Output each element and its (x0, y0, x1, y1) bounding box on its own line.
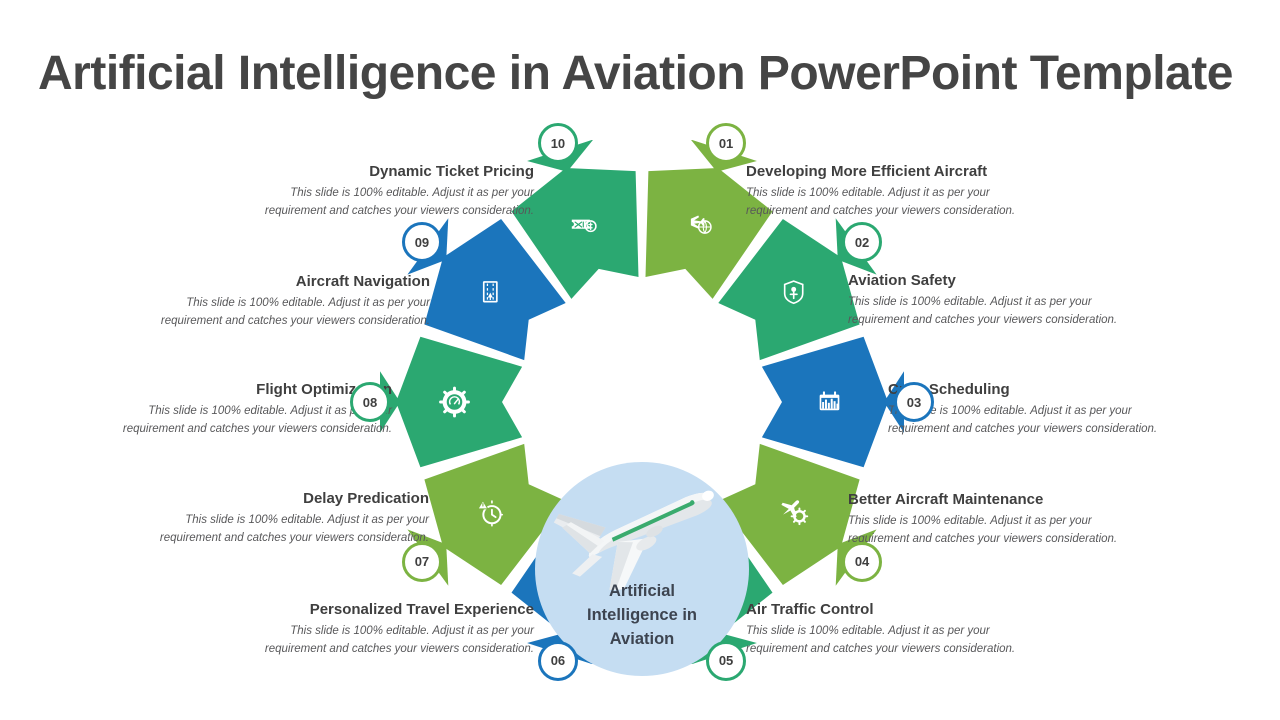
callout-title-03: Crew Scheduling (888, 381, 1194, 400)
callout-09[interactable]: Aircraft NavigationThis slide is 100% ed… (124, 273, 430, 330)
callout-description-10: This slide is 100% editable. Adjust it a… (228, 185, 534, 221)
callout-06[interactable]: Personalized Travel ExperienceThis slide… (228, 601, 534, 658)
segment-pin-number: 07 (415, 554, 429, 569)
callout-title-05: Air Traffic Control (746, 601, 1052, 620)
hub-label: Artificial Intelligence in Aviation (567, 580, 717, 652)
segment-pin-number: 09 (415, 235, 429, 250)
segment-pin-number: 05 (719, 653, 733, 668)
segment-pin-03[interactable]: 03 (894, 382, 934, 422)
segment-pin-02[interactable]: 02 (842, 222, 882, 262)
segment-pin-10[interactable]: 10 (538, 123, 578, 163)
callout-02[interactable]: Aviation SafetyThis slide is 100% editab… (848, 272, 1154, 329)
callout-title-10: Dynamic Ticket Pricing (228, 163, 534, 182)
callout-05[interactable]: Air Traffic ControlThis slide is 100% ed… (746, 601, 1052, 658)
callout-03[interactable]: Crew SchedulingThis slide is 100% editab… (888, 381, 1194, 438)
callout-01[interactable]: Developing More Efficient AircraftThis s… (746, 163, 1052, 220)
callout-title-09: Aircraft Navigation (124, 273, 430, 292)
callout-07[interactable]: Delay PredicationThis slide is 100% edit… (123, 490, 429, 547)
segment-pin-09[interactable]: 09 (402, 222, 442, 262)
callout-description-09: This slide is 100% editable. Adjust it a… (124, 295, 430, 331)
circular-process-diagram: Artificial Intelligence in Aviation 0102… (0, 140, 1280, 700)
callout-description-03: This slide is 100% editable. Adjust it a… (888, 403, 1194, 439)
segment-pin-06[interactable]: 06 (538, 641, 578, 681)
callout-title-02: Aviation Safety (848, 272, 1154, 291)
callout-description-02: This slide is 100% editable. Adjust it a… (848, 294, 1154, 330)
callout-10[interactable]: Dynamic Ticket PricingThis slide is 100%… (228, 163, 534, 220)
callout-08[interactable]: Flight OptimizationThis slide is 100% ed… (86, 381, 392, 438)
segment-pin-number: 06 (551, 653, 565, 668)
callout-title-07: Delay Predication (123, 490, 429, 509)
callout-title-04: Better Aircraft Maintenance (848, 491, 1154, 510)
callout-description-01: This slide is 100% editable. Adjust it a… (746, 185, 1052, 221)
segment-pin-04[interactable]: 04 (842, 542, 882, 582)
segment-pin-number: 02 (855, 235, 869, 250)
segment-pin-number: 04 (855, 554, 869, 569)
callout-title-01: Developing More Efficient Aircraft (746, 163, 1052, 182)
segment-pin-number: 01 (719, 136, 733, 151)
segment-pin-05[interactable]: 05 (706, 641, 746, 681)
page-title: Artificial Intelligence in Aviation Powe… (38, 46, 1248, 101)
airplane-illustration-icon (549, 470, 735, 590)
callout-description-04: This slide is 100% editable. Adjust it a… (848, 513, 1154, 549)
callout-title-06: Personalized Travel Experience (228, 601, 534, 620)
callout-description-05: This slide is 100% editable. Adjust it a… (746, 623, 1052, 659)
gear-gauge-icon (441, 388, 469, 416)
segment-pin-number: 08 (363, 395, 377, 410)
segment-pin-08[interactable]: 08 (350, 382, 390, 422)
callout-description-06: This slide is 100% editable. Adjust it a… (228, 623, 534, 659)
segment-pin-07[interactable]: 07 (402, 542, 442, 582)
callout-title-08: Flight Optimization (86, 381, 392, 400)
callout-description-07: This slide is 100% editable. Adjust it a… (123, 512, 429, 548)
segment-pin-number: 03 (907, 395, 921, 410)
callout-description-08: This slide is 100% editable. Adjust it a… (86, 403, 392, 439)
segment-pin-number: 10 (551, 136, 565, 151)
runway-icon (483, 281, 498, 302)
callout-04[interactable]: Better Aircraft MaintenanceThis slide is… (848, 491, 1154, 548)
